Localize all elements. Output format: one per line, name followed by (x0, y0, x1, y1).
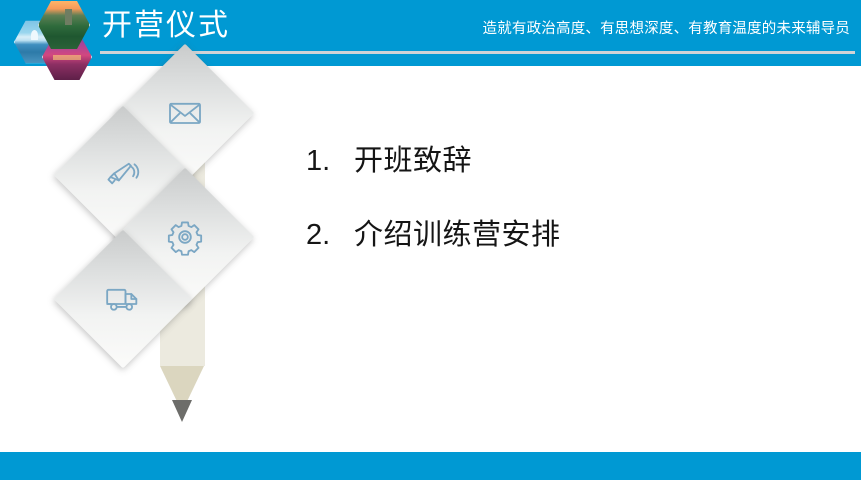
list-item-label: 介绍训练营安排 (354, 216, 561, 254)
list-item: 2. 介绍训练营安排 (306, 216, 806, 254)
slide-canvas: 开营仪式 造就有政治高度、有思想深度、有教育温度的未来辅导员 (0, 0, 861, 480)
header-subtitle: 造就有政治高度、有思想深度、有教育温度的未来辅导员 (483, 19, 851, 39)
list-item-index: 2. (306, 216, 354, 254)
list-item-index: 1. (306, 142, 354, 180)
header-divider-rule (100, 51, 855, 54)
content-list: 1. 开班致辞 2. 介绍训练营安排 (306, 142, 806, 290)
list-item-label: 开班致辞 (354, 142, 472, 180)
diamond-tile-truck[interactable] (54, 230, 193, 369)
pencil-point (172, 400, 192, 422)
hexagon-photo-cluster (14, 2, 100, 66)
list-item: 1. 开班致辞 (306, 142, 806, 180)
footer-bar (0, 452, 861, 480)
pencil-diamond-infographic (60, 70, 255, 450)
truck-icon (74, 250, 172, 348)
page-title: 开营仪式 (102, 6, 230, 46)
